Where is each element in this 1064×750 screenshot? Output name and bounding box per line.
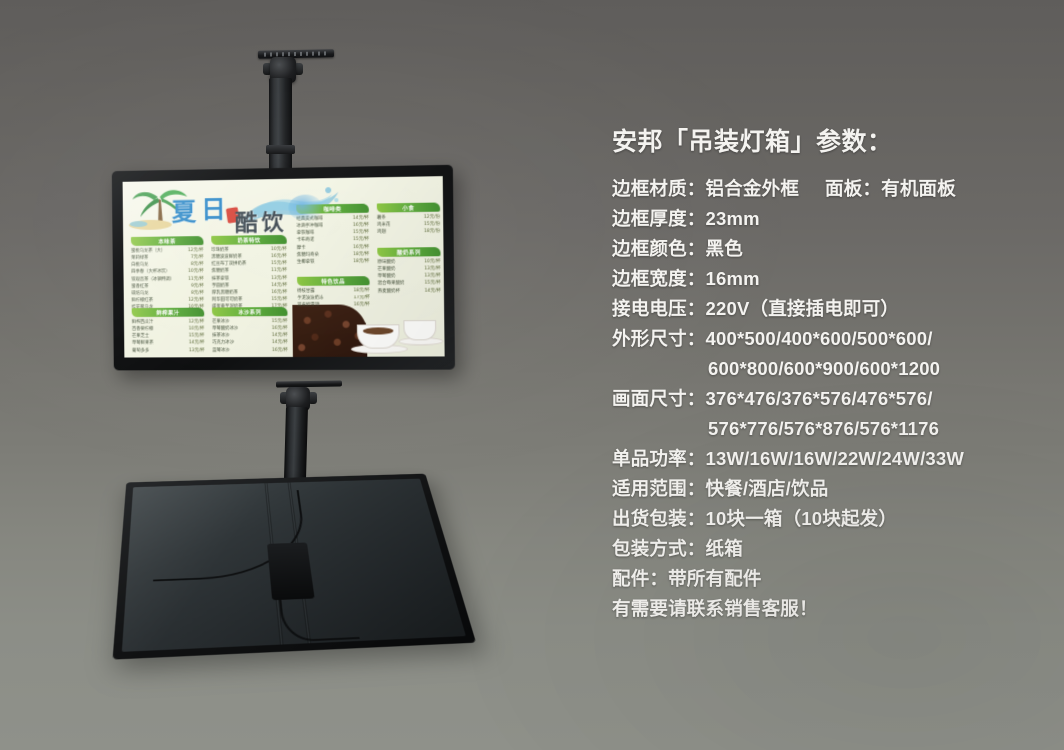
spec-title: 安邦「吊装灯箱」参数： — [612, 122, 1052, 158]
menu-section-header: 酸奶系列 — [377, 247, 440, 257]
menu-item-price: 14元/杯 — [268, 339, 288, 346]
light-box-screen: 夏 日 酷 饮 本味茶蜜桃乌龙茶（大） — [123, 176, 445, 357]
menu-section-header: 鲜榨果汁 — [132, 308, 205, 317]
menu-item-row: 葡萄多多13元/杯 — [132, 347, 205, 354]
spec-value: 16mm — [706, 268, 760, 289]
menu-item-list: 蜜桃乌龙茶（大）12元/杯茉莉绿茶7元/杯白桃乌龙8元/杯四季春（大杯冰饮）10… — [131, 247, 204, 311]
menu-section: 冰沙系列芒果冰沙15元/杯草莓酸奶冰沙16元/杯抹茶冰沙14元/杯巧克力冰沙14… — [212, 307, 288, 354]
spec-value: 带所有配件 — [668, 568, 762, 589]
menu-section-title: 鲜榨果汁 — [156, 308, 179, 316]
poster-title-char-1: 夏 — [171, 192, 196, 228]
menu-section-header: 冰沙系列 — [212, 307, 287, 317]
menu-item-row: 双皮奶雪顶16元/杯 — [297, 302, 369, 310]
menu-item-price: 16元/杯 — [268, 346, 288, 353]
menu-section-header: 特色饮品 — [297, 276, 370, 286]
menu-light-box-front: 夏 日 酷 饮 本味茶蜜桃乌龙茶（大） — [112, 165, 455, 371]
menu-item-price: 18元/份 — [420, 228, 440, 235]
menu-section: 特色饮品杨枝甘露18元/杯芋泥波波奶冻17元/杯双皮奶雪顶16元/杯 — [297, 276, 370, 309]
menu-section: 奶茶特饮珍珠奶茶10元/杯黑糖波波鲜奶茶16元/杯红豆布丁双拼奶茶15元/杯焦糖… — [211, 235, 287, 311]
menu-section-title: 特色饮品 — [321, 277, 345, 285]
menu-item-name: 鸡米花 — [377, 222, 390, 229]
menu-section-header: 小食 — [377, 202, 440, 212]
spec-line: 边框厚度：23mm — [612, 204, 1052, 234]
light-box-rear-frame — [113, 474, 477, 660]
menu-item-list: 芒果冰沙15元/杯草莓酸奶冰沙16元/杯抹茶冰沙14元/杯巧克力冰沙14元/杯蓝… — [212, 318, 288, 354]
spec-line: 边框宽度：16mm — [612, 264, 1052, 294]
poster-title-char-3: 酷 — [235, 203, 258, 237]
menu-section: 本味茶蜜桃乌龙茶（大）12元/杯茉莉绿茶7元/杯白桃乌龙8元/杯四季春（大杯冰饮… — [131, 236, 204, 311]
menu-item-price: 14元/杯 — [421, 287, 441, 294]
menu-item-price: 16元/杯 — [350, 302, 370, 309]
spec-line: 边框颜色：黑色 — [612, 234, 1052, 264]
spec-line-list: 边框材质：铝合金外框面板：有机面板边框厚度：23mm边框颜色：黑色边框宽度：16… — [612, 174, 1052, 594]
spec-label-secondary: 面板： — [825, 178, 881, 199]
menu-item-name: 蓝莓冰沙 — [212, 347, 229, 354]
spec-value: 23mm — [706, 208, 760, 229]
menu-section-title: 小食 — [402, 203, 414, 211]
menu-item-name: 草莓鲜果茶 — [132, 340, 153, 347]
mount-plate-lower — [276, 380, 342, 387]
spec-line: 单品功率：13W/16W/16W/22W/24W/33W — [612, 444, 1052, 474]
coffee-cup-back — [403, 320, 436, 340]
spec-footer: 有需要请联系销售客服！ — [612, 594, 1052, 624]
menu-section-title: 冰沙系列 — [238, 308, 262, 316]
menu-item-name: 巧克力冰沙 — [212, 340, 234, 347]
menu-item-price: 15元/杯 — [185, 333, 205, 340]
menu-item-name: 草莓酸奶冰沙 — [212, 325, 238, 332]
menu-poster: 夏 日 酷 饮 本味茶蜜桃乌龙茶（大） — [123, 176, 445, 357]
spec-value: 快餐/酒店/饮品 — [706, 478, 829, 499]
poster-title-char-2: 日 — [201, 190, 226, 226]
ceiling-plate-holes — [264, 51, 328, 56]
spec-value-secondary: 有机面板 — [881, 178, 956, 199]
light-box-bezel: 夏 日 酷 饮 本味茶蜜桃乌龙茶（大） — [112, 165, 455, 371]
menu-item-list: 珍珠奶茶10元/杯黑糖波波鲜奶茶16元/杯红豆布丁双拼奶茶15元/杯焦糖奶茶11… — [211, 246, 287, 311]
spec-value: 10块一箱（10块起发） — [706, 508, 898, 529]
spec-value: 黑色 — [706, 238, 743, 259]
spec-label: 边框厚度： — [612, 208, 706, 229]
spec-value: 376*476/376*576/476*576/ — [706, 388, 933, 409]
spec-line: 外形尺寸：400*500/400*600/500*600/ — [612, 324, 1052, 354]
spec-label: 单品功率： — [612, 448, 706, 469]
spec-label: 画面尺寸： — [612, 388, 706, 409]
menu-item-row: 蓝莓冰沙16元/杯 — [212, 346, 287, 353]
spec-value: 220V（直接插电即可） — [706, 298, 900, 319]
spec-line: 出货包装：10块一箱（10块起发） — [612, 504, 1052, 534]
product-photo-scene: 夏 日 酷 饮 本味茶蜜桃乌龙茶（大） — [0, 0, 1064, 750]
menu-section-title: 本味茶 — [158, 237, 175, 245]
menu-item-name: 鸡翅 — [377, 229, 386, 236]
menu-item-list: 杨枝甘露18元/杯芋泥波波奶冻17元/杯双皮奶雪顶16元/杯 — [297, 287, 370, 309]
menu-light-box-rear — [113, 474, 477, 660]
spec-line: 适用范围：快餐/酒店/饮品 — [612, 474, 1052, 504]
spec-label: 外形尺寸： — [612, 328, 706, 349]
menu-item-price: 14元/杯 — [268, 332, 288, 339]
spec-label: 边框材质： — [612, 178, 706, 199]
rear-mount-bracket — [267, 543, 315, 601]
spec-value: 铝合金外框 — [706, 178, 800, 199]
spec-value: 400*500/400*600/500*600/ — [706, 328, 933, 349]
spec-value: 13W/16W/16W/22W/24W/33W — [706, 448, 965, 469]
menu-item-list: 鲜榨西瓜汁12元/杯百香果柠檬10元/杯芒果芝士15元/杯草莓鲜果茶14元/杯葡… — [132, 319, 205, 355]
spec-line-continuation: 600*800/600*900/600*1200 — [612, 354, 1052, 384]
menu-section-header: 本味茶 — [131, 236, 204, 246]
menu-item-name: 铁观音茶（冰镇特调） — [131, 276, 174, 283]
coffee-cup-front — [357, 324, 400, 348]
poster-title-char-4: 饮 — [261, 205, 283, 237]
menu-item-name: 燕麦酸奶杯 — [378, 287, 400, 294]
menu-item-name: 百香果柠檬 — [132, 326, 153, 333]
mount-pole-collar-upper — [266, 145, 295, 154]
menu-section-title: 酸奶系列 — [397, 248, 421, 256]
menu-item-name: 生椰拿铁 — [297, 258, 315, 265]
menu-item-price: 13元/杯 — [185, 347, 205, 354]
spec-label: 配件： — [612, 568, 668, 589]
menu-item-name: 葡萄多多 — [132, 347, 149, 354]
poster-title: 夏 日 酷 饮 — [166, 184, 335, 236]
title-water-blob — [288, 194, 322, 221]
specification-panel: 安邦「吊装灯箱」参数： 边框材质：铝合金外框面板：有机面板边框厚度：23mm边框… — [612, 122, 1052, 624]
ceiling-plate-upper — [258, 49, 334, 59]
spec-label: 出货包装： — [612, 508, 706, 529]
spec-line: 边框材质：铝合金外框面板：有机面板 — [612, 174, 1052, 204]
menu-section: 鲜榨果汁鲜榨西瓜汁12元/杯百香果柠檬10元/杯芒果芝士15元/杯草莓鲜果茶14… — [132, 308, 205, 355]
menu-item-price: 18元/杯 — [349, 258, 369, 265]
spec-line: 包装方式：纸箱 — [612, 534, 1052, 564]
spec-line: 接电电压：220V（直接插电即可） — [612, 294, 1052, 324]
spec-label: 包装方式： — [612, 538, 706, 559]
menu-item-name: 抹茶冰沙 — [212, 333, 229, 340]
spec-line: 画面尺寸：376*476/376*576/476*576/ — [612, 384, 1052, 414]
spec-value: 纸箱 — [706, 538, 743, 559]
light-box-rear-face — [122, 479, 466, 652]
menu-item-list: 薯条12元/份鸡米花15元/份鸡翅18元/份 — [377, 214, 440, 236]
menu-item-name: 双皮奶雪顶 — [297, 302, 319, 309]
menu-item-row: 鸡翅18元/份 — [377, 228, 440, 236]
menu-item-row: 燕麦酸奶杯14元/杯 — [378, 287, 441, 295]
spec-label: 接电电压： — [612, 298, 706, 319]
spec-label: 适用范围： — [612, 478, 706, 499]
spec-line: 配件：带所有配件 — [612, 564, 1052, 594]
menu-item-row: 生椰拿铁18元/杯 — [297, 258, 369, 266]
menu-item-list: 原味酸奶10元/杯芒果酸奶13元/杯草莓酸奶13元/杯混合莓果酸奶15元/杯燕麦… — [377, 258, 441, 295]
spec-label: 边框颜色： — [612, 238, 706, 259]
menu-section: 酸奶系列原味酸奶10元/杯芒果酸奶13元/杯草莓酸奶13元/杯混合莓果酸奶15元… — [377, 247, 441, 295]
menu-section: 小食薯条12元/份鸡米花15元/份鸡翅18元/份 — [377, 202, 440, 236]
spec-label: 边框宽度： — [612, 268, 706, 289]
spec-line-continuation: 576*776/576*876/576*1176 — [612, 414, 1052, 444]
menu-item-price: 14元/杯 — [185, 340, 205, 347]
